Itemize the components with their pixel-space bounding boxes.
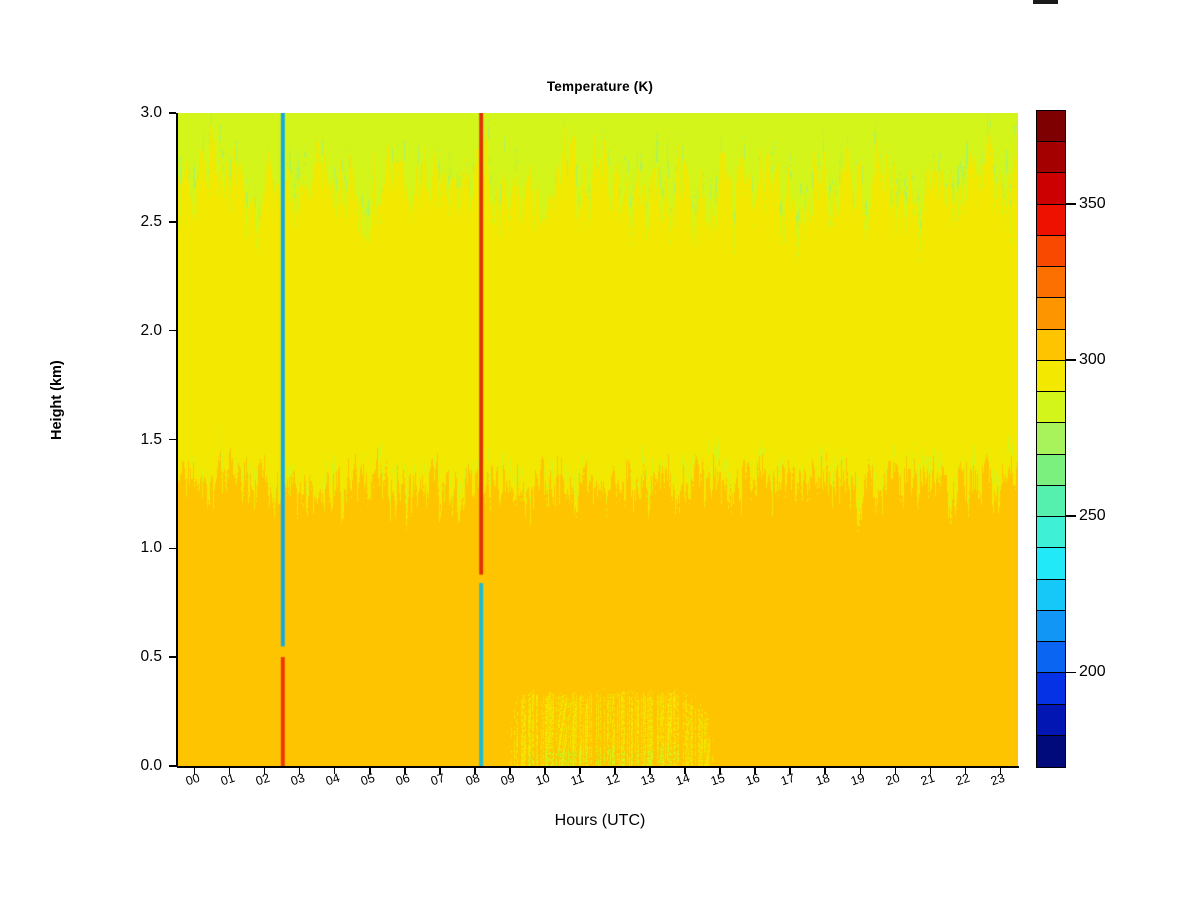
colorbar-cell <box>1037 205 1065 236</box>
colorbar-cell <box>1037 548 1065 579</box>
x-tick-label: 23 <box>989 771 1007 789</box>
colorbar-tick <box>1066 359 1076 361</box>
colorbar-cell <box>1037 705 1065 736</box>
y-tick-label: 3.0 <box>0 104 162 122</box>
x-tick-label: 13 <box>639 771 657 789</box>
y-tick-label: 1.0 <box>0 539 162 557</box>
y-axis-line <box>176 113 178 767</box>
y-tick <box>169 548 176 550</box>
x-tick-label: 18 <box>814 771 832 789</box>
x-tick-label: 05 <box>359 771 377 789</box>
x-tick-label: 15 <box>709 771 727 789</box>
y-tick <box>169 765 176 767</box>
colorbar-cell <box>1037 642 1065 673</box>
colorbar-tick <box>1066 515 1076 517</box>
x-tick-label: 02 <box>254 771 272 789</box>
x-tick-label: 16 <box>744 771 762 789</box>
x-tick-label: 17 <box>779 771 797 789</box>
x-tick-label: 06 <box>394 771 412 789</box>
colorbar-cell <box>1037 236 1065 267</box>
colorbar-cell <box>1037 486 1065 517</box>
colorbar-tick <box>1066 672 1076 674</box>
colorbar-cell <box>1037 298 1065 329</box>
y-tick <box>169 656 176 658</box>
y-tick <box>169 112 176 114</box>
colorbar-cell <box>1037 173 1065 204</box>
colorbar <box>1036 110 1066 768</box>
colorbar-cell <box>1037 111 1065 142</box>
chart-title: Temperature (K) <box>0 79 1200 94</box>
x-tick-label: 04 <box>324 771 342 789</box>
colorbar-tick-label: 350 <box>1079 195 1106 213</box>
colorbar-tick-label: 250 <box>1079 507 1106 525</box>
heatmap-panel <box>177 113 1018 766</box>
x-tick-label: 10 <box>534 771 552 789</box>
x-axis-title: Hours (UTC) <box>0 812 1200 830</box>
x-axis-line <box>177 766 1019 768</box>
x-tick-label: 01 <box>219 771 237 789</box>
colorbar-cell <box>1037 736 1065 767</box>
y-tick <box>169 221 176 223</box>
colorbar-cell <box>1037 392 1065 423</box>
y-tick-label: 0.0 <box>0 757 162 775</box>
colorbar-cell <box>1037 423 1065 454</box>
colorbar-tick-label: 300 <box>1079 351 1106 369</box>
colorbar-cell <box>1037 361 1065 392</box>
y-axis-title: Height (km) <box>49 360 65 440</box>
x-tick-label: 19 <box>849 771 867 789</box>
colorbar-tick <box>1066 203 1076 205</box>
colorbar-cell <box>1037 673 1065 704</box>
x-tick-label: 12 <box>604 771 622 789</box>
x-tick-label: 14 <box>674 771 692 789</box>
x-tick-label: 00 <box>184 771 202 789</box>
x-tick-label: 20 <box>884 771 902 789</box>
colorbar-tick-label: 200 <box>1079 663 1106 681</box>
x-tick-label: 11 <box>569 771 586 788</box>
y-tick-label: 2.5 <box>0 213 162 231</box>
y-tick-label: 0.5 <box>0 648 162 666</box>
x-tick-label: 09 <box>499 771 517 789</box>
y-tick <box>169 439 176 441</box>
x-tick-label: 21 <box>919 771 937 789</box>
temperature-time-height-plot: Temperature (K) 0.00.51.01.52.02.53.0 00… <box>0 0 1200 900</box>
colorbar-cell <box>1037 611 1065 642</box>
heatmap-canvas <box>177 113 1018 766</box>
x-tick-label: 03 <box>289 771 307 789</box>
x-tick-label: 08 <box>464 771 482 789</box>
y-tick-label: 2.0 <box>0 322 162 340</box>
top-edge-artifact <box>1033 0 1058 4</box>
colorbar-cell <box>1037 142 1065 173</box>
colorbar-cell <box>1037 580 1065 611</box>
colorbar-cell <box>1037 517 1065 548</box>
x-tick-label: 22 <box>954 771 972 789</box>
y-tick <box>169 330 176 332</box>
colorbar-cell <box>1037 267 1065 298</box>
colorbar-cell <box>1037 330 1065 361</box>
x-tick-label: 07 <box>429 771 447 789</box>
y-tick-label: 1.5 <box>0 431 162 449</box>
colorbar-cell <box>1037 455 1065 486</box>
